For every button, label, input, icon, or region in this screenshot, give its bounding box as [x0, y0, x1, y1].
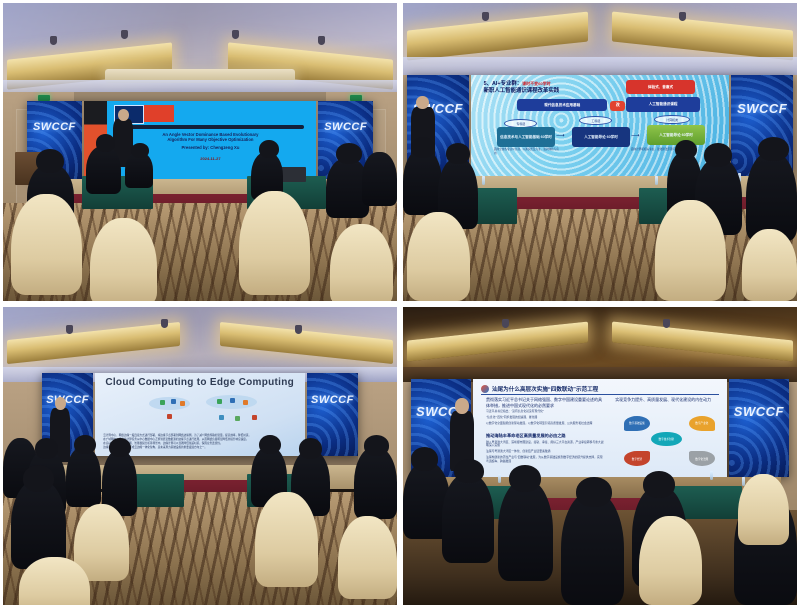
audience-person	[86, 146, 121, 194]
photo-collage: SWCCF An Angle Vector Dominance Based Ev…	[0, 0, 800, 608]
section2-sub2: 汕尾与粤港澳大湾区一体化、创新链产业链要素融通	[486, 450, 605, 454]
banquet-chair	[19, 557, 90, 605]
attendee-table	[129, 474, 184, 507]
conference-room-scene: SWCCF Cloud Computing to Edge Computing	[3, 307, 397, 605]
cycle-node-1: 数字产业化	[689, 416, 715, 431]
banquet-chair	[239, 191, 310, 295]
node-icon	[160, 400, 165, 405]
slide-title: 汕尾为什么高层次实施“四数联动”示范工程	[492, 385, 598, 393]
presenter-head	[118, 109, 129, 121]
water-bottle	[498, 474, 501, 483]
audience-head	[758, 137, 790, 161]
conference-room-scene: SWCCF 汕尾为什么高层次实施“四数联动”示范工程 贯彻落实习近平总书记关于网…	[403, 307, 797, 605]
audience-person	[442, 474, 493, 563]
spotlight-icon	[318, 36, 325, 45]
audience-head	[675, 140, 697, 159]
conference-room-scene: SWCCF 5、AI+专业群：课时不变60学时 新职人工智能通识课程改革实践 体…	[403, 3, 797, 301]
cycle-diagram: 数字基础设施 数字产业化 数字化治理 数字经济 数字技术创新	[618, 411, 719, 470]
slide-red-tag: 体验式、普惠式	[626, 80, 695, 94]
slide-arrow-chip: 改	[610, 101, 625, 111]
node-icon	[167, 414, 172, 419]
audience-head	[704, 143, 732, 167]
spotlight-icon	[679, 12, 686, 21]
slide-box-2: 人工智能导论 60学时	[572, 127, 631, 147]
slide-title-line2: Algorithm For Many Objective Optimizatio…	[114, 137, 306, 142]
heading-note: 课时不变60学时	[522, 81, 550, 86]
banquet-chair	[407, 212, 470, 301]
node-icon	[217, 399, 222, 404]
node-icon	[243, 400, 248, 405]
slide-fine-print-left: 面向全校各专业公共课，以通识普及为主，强调体验与应用	[494, 148, 561, 155]
bullet-left-sub1: 习近平总书记指出：“没有信息化就没有现代化”	[486, 410, 605, 414]
audience-head	[259, 140, 279, 158]
audience-head	[299, 438, 323, 459]
audience-person	[362, 152, 397, 206]
slide-chip-right: 人工智能通识课程	[626, 97, 700, 112]
led-video-wall: SWCCF An Angle Vector Dominance Based Ev…	[27, 101, 374, 178]
slide-left-column: 贯彻落实习近平总书记关于网络强国、数字中国建设重要论述的具体举措，推进中国式现代…	[486, 397, 605, 425]
banquet-chair	[338, 516, 397, 599]
banquet-chair	[742, 229, 797, 301]
audience-head	[23, 465, 55, 492]
audience-head	[74, 435, 96, 454]
side-screen-label: SWCCF	[731, 101, 793, 116]
audience-head	[411, 447, 439, 471]
section2-sub1: 融入粤港澳大湾区、深圳都市圈建设，接轨、承接、用好三大平台资源，产业承接转移与重…	[486, 441, 605, 449]
water-bottle	[710, 471, 713, 480]
led-side-right: SWCCF	[729, 379, 790, 477]
node-icon	[219, 415, 224, 420]
slide-title: Cloud Computing to Edge Computing	[105, 377, 294, 388]
cycle-node-2: 数字化治理	[689, 451, 715, 466]
node-icon	[252, 415, 257, 420]
node-icon	[180, 401, 185, 406]
node-icon	[230, 398, 235, 403]
banquet-chair	[639, 516, 702, 605]
banquet-chair	[90, 218, 157, 301]
slide-section2: 推动海陆丰革命老区高质量发展的必由之路 融入粤港澳大湾区、深圳都市圈建设，接轨、…	[486, 433, 605, 464]
audience-head	[36, 149, 64, 173]
led-main-screen: 汕尾为什么高层次实施“四数联动”示范工程 贯彻落实习近平总书记关于网络强国、数字…	[473, 379, 726, 477]
banquet-chair	[738, 474, 789, 546]
audience-person	[403, 149, 442, 215]
banquet-chair	[330, 224, 393, 301]
cloud-edge-diagram	[141, 394, 276, 427]
banquet-chair	[11, 194, 82, 295]
conference-room-scene: SWCCF An Angle Vector Dominance Based Ev…	[3, 3, 397, 301]
audience-head	[643, 471, 675, 498]
photo-bottom-right: SWCCF 汕尾为什么高层次实施“四数联动”示范工程 贯彻落实习近平总书记关于网…	[400, 304, 800, 608]
photo-top-left: SWCCF An Angle Vector Dominance Based Ev…	[0, 0, 400, 304]
audience-head	[454, 459, 484, 483]
cycle-node-0: 数字基础设施	[624, 416, 650, 431]
bullet-left-sub2: “信息化”“四化”同步发展的加速器、催化器	[486, 416, 605, 420]
audience-person	[561, 492, 624, 605]
audience-person	[11, 480, 66, 569]
section2-title: 推动海陆丰革命老区高质量发展的必由之路	[486, 433, 605, 439]
audience-person	[66, 447, 101, 507]
audience-head	[131, 143, 149, 158]
spotlight-icon	[232, 30, 239, 39]
water-bottle	[482, 176, 485, 185]
red-tag-line1: 体验式、普惠式	[648, 85, 673, 89]
audience-head	[259, 435, 281, 454]
slide-divider	[114, 125, 304, 129]
side-screen-label: SWCCF	[729, 404, 790, 419]
bullet-left-main: 贯彻落实习近平总书记关于网络强国、数字中国建设重要论述的具体举措，推进中国式现代…	[486, 397, 605, 408]
slide-oval-2: 工科层	[579, 116, 612, 125]
photo-top-right: SWCCF 5、AI+专业群：课时不变60学时 新职人工智能通识课程改革实践 体…	[400, 0, 800, 304]
audience-head	[364, 435, 390, 456]
side-screen-label: SWCCF	[42, 394, 92, 406]
arrow-right-icon: ⟶	[631, 132, 640, 139]
audience-head	[411, 137, 435, 158]
spotlight-icon	[121, 30, 128, 39]
audience-person	[498, 480, 553, 581]
banquet-chair	[655, 200, 726, 301]
red-flag-block	[144, 105, 174, 122]
spotlight-icon	[50, 36, 57, 45]
spotlight-icon	[663, 319, 670, 328]
cycle-center: 数字技术创新	[651, 432, 681, 446]
banquet-chair	[255, 492, 318, 587]
heading-sub: 新职人工智能通识课程改革实践	[484, 88, 559, 94]
heading-number: 5、	[484, 81, 492, 87]
node-icon	[171, 399, 176, 404]
spotlight-icon	[161, 319, 168, 328]
audience-person	[354, 447, 397, 519]
presenter-head	[455, 398, 468, 413]
audience-head	[35, 438, 59, 459]
side-screen-label: SWCCF	[307, 394, 357, 406]
slide-logo-icon	[481, 385, 489, 393]
bullet-left-sub3: 以数字化全面赋能创新驱动发展，以数字化转型引领高质量发展、公共服务和社会治理	[486, 422, 605, 426]
audience-head	[336, 143, 362, 164]
side-screen-label: SWCCF	[27, 121, 82, 133]
audience-head	[576, 477, 611, 507]
presenter-head	[416, 96, 429, 110]
audience-head	[109, 438, 131, 457]
photo-bottom-left: SWCCF Cloud Computing to Edge Computing	[0, 304, 400, 608]
slide-title-bar: 汕尾为什么高层次实施“四数联动”示范工程	[481, 383, 719, 395]
bullet-right-main: 实现竞争力提升、高质量发展、现代化建设的内在动力	[615, 397, 716, 403]
side-screen-label: SWCCF	[318, 121, 373, 133]
slide-box-3: 人工智能导论 60学时	[647, 125, 706, 145]
slide-oval-3: 计算机类	[654, 115, 690, 124]
audience-head	[509, 465, 541, 492]
audience-head	[446, 143, 470, 164]
node-icon	[235, 416, 240, 421]
slide-box-1: 信息技术与人工智能基础 60学时	[497, 127, 556, 147]
heading-main: AI+专业群：	[492, 81, 522, 87]
spotlight-icon	[482, 12, 489, 21]
audience-head	[96, 134, 116, 152]
spotlight-icon	[502, 319, 509, 328]
arrow-right-icon: ⟶	[556, 132, 565, 139]
section2-sub3: 汕尾构建新的首位产业与“四数联动”发展，为从数字基础设施到数字经济的跃升提供支撑…	[486, 456, 605, 464]
audience-person	[746, 152, 797, 241]
slide-right-column: 实现竞争力提升、高质量发展、现代化建设的内在动力	[615, 397, 716, 403]
spotlight-icon	[66, 325, 73, 334]
water-bottle	[655, 176, 658, 185]
spotlight-icon	[295, 325, 302, 334]
cycle-node-3: 数字经济	[624, 451, 650, 466]
slide-chip-left: 现代信息技术应用基础	[517, 99, 607, 111]
presenter-head	[55, 397, 66, 411]
